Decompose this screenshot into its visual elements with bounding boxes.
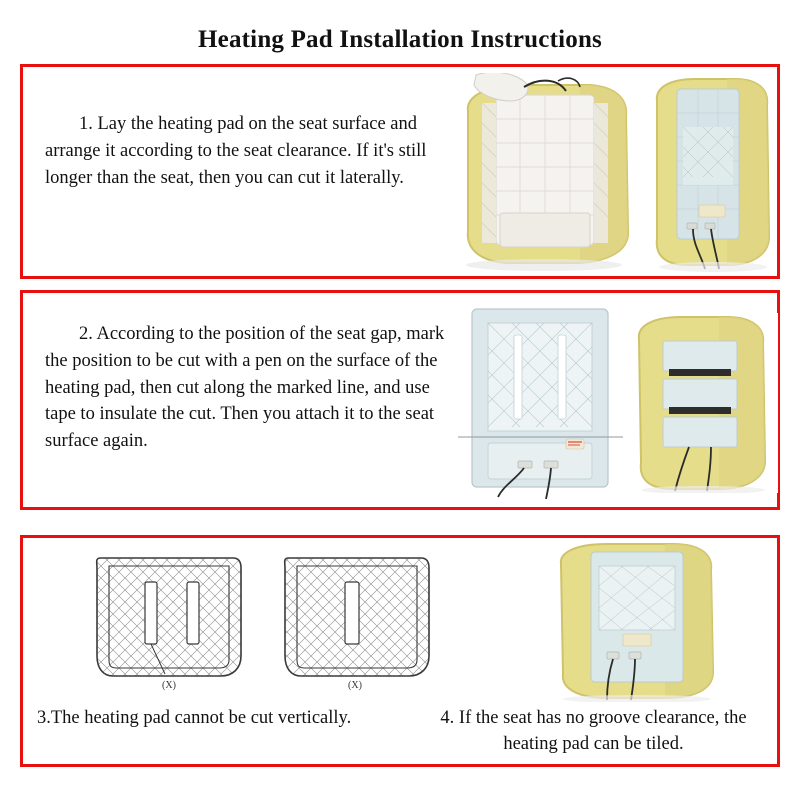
step-3-caption: 3.The heating pad cannot be cut vertical… (37, 706, 417, 732)
seat-backrest-with-pad-photo (643, 73, 777, 273)
step-3-4-panel: (X) (X) (20, 535, 780, 767)
step-1-text: 1. Lay the heating pad on the seat surfa… (45, 111, 445, 191)
pad-vertical-cut-diagram: (X) (X) (83, 548, 443, 698)
step-4-caption: 4. If the seat has no groove clearance, … (421, 706, 766, 758)
diagram-right-label: (X) (348, 680, 362, 691)
instruction-sheet: Heating Pad Installation Instructions 1.… (0, 0, 800, 800)
step-2-panel: 2. According to the position of the seat… (20, 290, 780, 510)
heating-pad-on-seat-photo (440, 73, 640, 273)
seat-with-tiled-pad-photo (503, 542, 768, 702)
step-1-panel: 1. Lay the heating pad on the seat surfa… (20, 64, 780, 279)
diagram-left-label: (X) (162, 680, 176, 691)
seat-with-cut-pad-photo (623, 313, 778, 493)
step-2-text: 2. According to the position of the seat… (45, 321, 455, 455)
heating-pad-marking-photo (458, 301, 623, 501)
page-title: Heating Pad Installation Instructions (0, 0, 800, 62)
